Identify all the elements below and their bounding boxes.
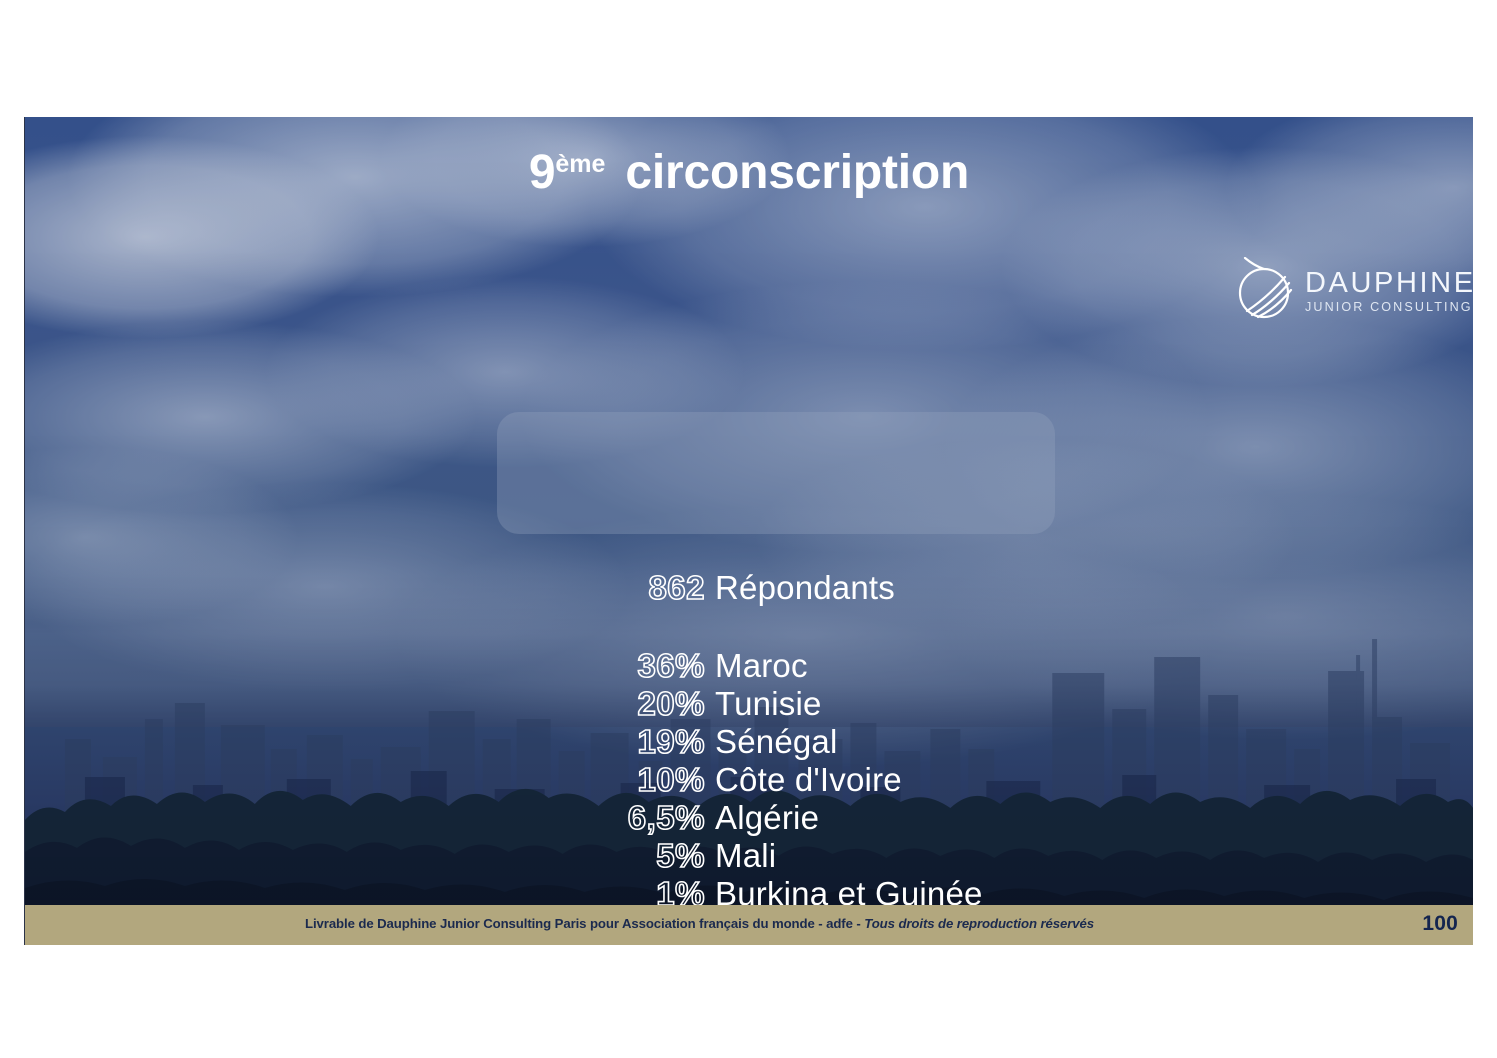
title-plaque — [497, 412, 1055, 534]
stat-value: 5% — [525, 837, 715, 875]
stat-country: Maroc — [715, 647, 808, 685]
slide-page: DAUPHINE JUNIOR CONSULTING 9èmecirconscr… — [0, 0, 1497, 1058]
title-main-word: circonscription — [625, 146, 969, 199]
stat-value: 6,5% — [525, 799, 715, 837]
footer-note-italic: Tous droits de reproduction réservés — [864, 916, 1094, 931]
title-ordinal-suffix: ème — [555, 150, 605, 178]
footer-bar: Livrable de Dauphine Junior Consulting P… — [25, 905, 1473, 945]
logo-tagline: JUNIOR CONSULTING — [1305, 301, 1473, 315]
stat-row: 10% Côte d'Ivoire — [525, 761, 1145, 799]
logo-brand-name: DAUPHINE — [1305, 269, 1473, 299]
stat-row: 20% Tunisie — [525, 685, 1145, 723]
stat-country: Côte d'Ivoire — [715, 761, 902, 799]
stat-country: Sénégal — [715, 723, 838, 761]
stat-row: 19% Sénégal — [525, 723, 1145, 761]
respondents-count: 862 — [525, 569, 715, 607]
stat-value: 19% — [525, 723, 715, 761]
stat-row: 5% Mali — [525, 837, 1145, 875]
stat-country: Tunisie — [715, 685, 822, 723]
stat-value: 20% — [525, 685, 715, 723]
stat-country: Algérie — [715, 799, 819, 837]
dauphine-junior-consulting-logo: DAUPHINE JUNIOR CONSULTING — [1233, 252, 1473, 328]
stat-row: 6,5% Algérie — [525, 799, 1145, 837]
stats-spacer — [525, 607, 1145, 647]
statistics-block: 862 Répondants 36% Maroc 20% Tunisie 19%… — [525, 569, 1145, 913]
respondents-label: Répondants — [715, 569, 895, 607]
stat-row: 36% Maroc — [525, 647, 1145, 685]
slide-canvas: DAUPHINE JUNIOR CONSULTING 9èmecirconscr… — [24, 117, 1473, 945]
stat-country: Mali — [715, 837, 776, 875]
stat-value: 36% — [525, 647, 715, 685]
footer-note-plain: Livrable de Dauphine Junior Consulting P… — [305, 916, 864, 931]
globe-sphere-icon — [1233, 257, 1297, 323]
page-title: 9èmecirconscription — [25, 145, 1473, 200]
stat-value: 10% — [525, 761, 715, 799]
page-number: 100 — [1422, 912, 1458, 936]
respondents-row: 862 Répondants — [525, 569, 1145, 607]
title-ordinal-number: 9 — [529, 146, 556, 199]
footer-copyright-note: Livrable de Dauphine Junior Consulting P… — [25, 916, 1473, 931]
